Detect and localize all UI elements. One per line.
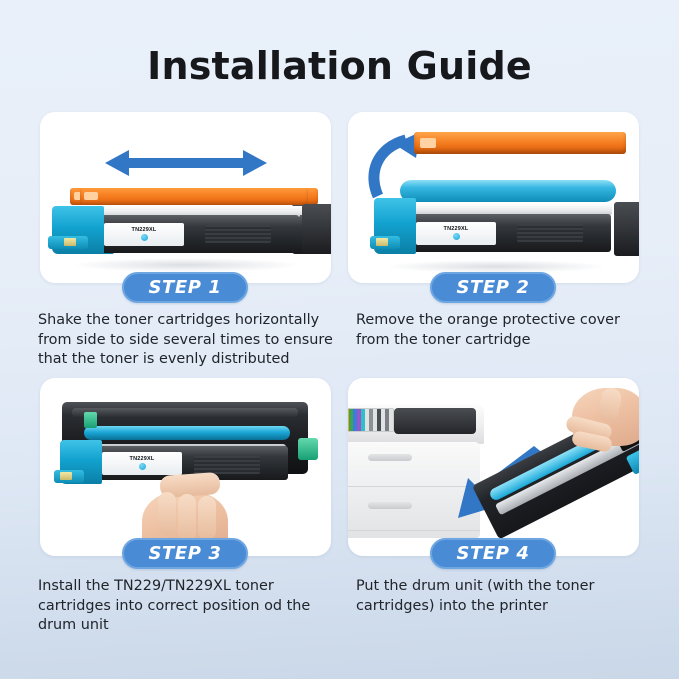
step-3-badge: STEP 3 — [122, 538, 248, 569]
cartridge-vent — [517, 224, 583, 242]
step-1-card: TN229XL — [40, 112, 331, 283]
cartridge-cyan-drum-top — [400, 180, 616, 202]
cartridge-black-end — [614, 202, 639, 256]
printer-output-slot — [394, 408, 476, 434]
step-4-badge: STEP 4 — [430, 538, 556, 569]
cyan-color-dot — [139, 463, 146, 470]
orange-protective-cover — [80, 188, 308, 205]
step-1-badge: STEP 1 — [122, 272, 248, 303]
page-title: Installation Guide — [0, 44, 679, 88]
cartridge-label: TN229XL — [416, 222, 496, 245]
cartridge-vent — [194, 456, 260, 474]
step-1-caption: Shake the toner cartridges horizontally … — [38, 311, 338, 370]
step-3-card: TN229XL — [40, 378, 331, 556]
cartridge-black-end — [302, 204, 331, 254]
double-headed-arrow-icon — [103, 148, 269, 178]
step-4-caption: Put the drum unit (with the toner cartri… — [356, 577, 656, 616]
printer-seam-2 — [348, 530, 480, 531]
hand — [556, 384, 639, 464]
printer-paper-tray — [348, 408, 394, 432]
step-2-illustration: TN229XL — [348, 112, 639, 283]
orange-protective-cover-removed — [414, 132, 626, 154]
drum-unit-cyan-roller — [84, 426, 290, 440]
drum-unit-green-latch — [84, 412, 97, 428]
step-4-card — [348, 378, 639, 556]
printer-tray-grip-1 — [368, 454, 412, 461]
drum-unit-top-edge — [72, 408, 298, 417]
cartridge-vent — [205, 225, 271, 243]
cyan-color-dot — [453, 233, 460, 240]
installation-guide-page: Installation Guide — [0, 0, 679, 679]
cartridge-label: TN229XL — [102, 452, 182, 475]
step-2-badge: STEP 2 — [430, 272, 556, 303]
toner-cartridge: TN229XL — [374, 178, 632, 258]
cartridge-chip — [376, 238, 388, 246]
printer-top-case — [348, 404, 484, 444]
printer-tray-grip-2 — [368, 502, 412, 509]
step-4-illustration — [348, 378, 639, 556]
cartridge-body: TN229XL — [406, 214, 611, 252]
cyan-color-dot — [141, 234, 148, 241]
cartridge-body: TN229XL — [94, 215, 299, 253]
hand-knuckle-3 — [198, 496, 216, 540]
step-3-illustration: TN229XL — [40, 378, 331, 556]
cartridge-chip — [64, 238, 76, 246]
cartridge-chip — [60, 472, 72, 480]
cartridge-label: TN229XL — [104, 223, 184, 246]
toner-cartridge: TN229XL — [62, 188, 320, 258]
cartridge-shadow — [70, 258, 302, 272]
hand-knuckle-2 — [178, 494, 196, 542]
step-2-card: TN229XL — [348, 112, 639, 283]
step-3-caption: Install the TN229/TN229XL toner cartridg… — [38, 577, 338, 636]
step-1-illustration: TN229XL — [40, 112, 331, 283]
step-2-caption: Remove the orange protective cover from … — [356, 311, 656, 350]
hand-knuckle-1 — [158, 492, 176, 536]
